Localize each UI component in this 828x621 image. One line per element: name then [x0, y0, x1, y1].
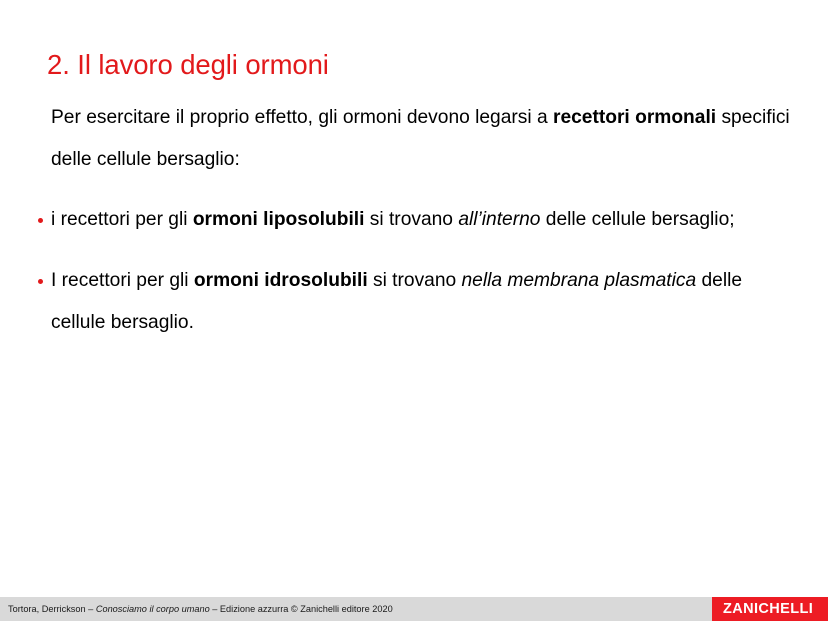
- list-item: I recettori per gli ormoni idrosolubili …: [33, 260, 795, 343]
- footer-bar: Tortora, Derrickson – Conosciamo il corp…: [0, 597, 828, 621]
- list-item: i recettori per gli ormoni liposolubili …: [33, 199, 795, 241]
- zanichelli-wordmark: ZANICHELLI: [723, 601, 813, 617]
- slide-body: Per esercitare il proprio effetto, gli o…: [33, 78, 795, 362]
- footer-credit-text: Tortora, Derrickson – Conosciamo il corp…: [8, 603, 393, 615]
- bullet-dot-icon: [38, 279, 43, 284]
- intro-paragraph: Per esercitare il proprio effetto, gli o…: [33, 97, 795, 180]
- bullet-dot-icon: [38, 218, 43, 223]
- slide-canvas: 2. Il lavoro degli ormoni Per esercitare…: [0, 0, 828, 621]
- zanichelli-logo: ZANICHELLI: [712, 597, 828, 621]
